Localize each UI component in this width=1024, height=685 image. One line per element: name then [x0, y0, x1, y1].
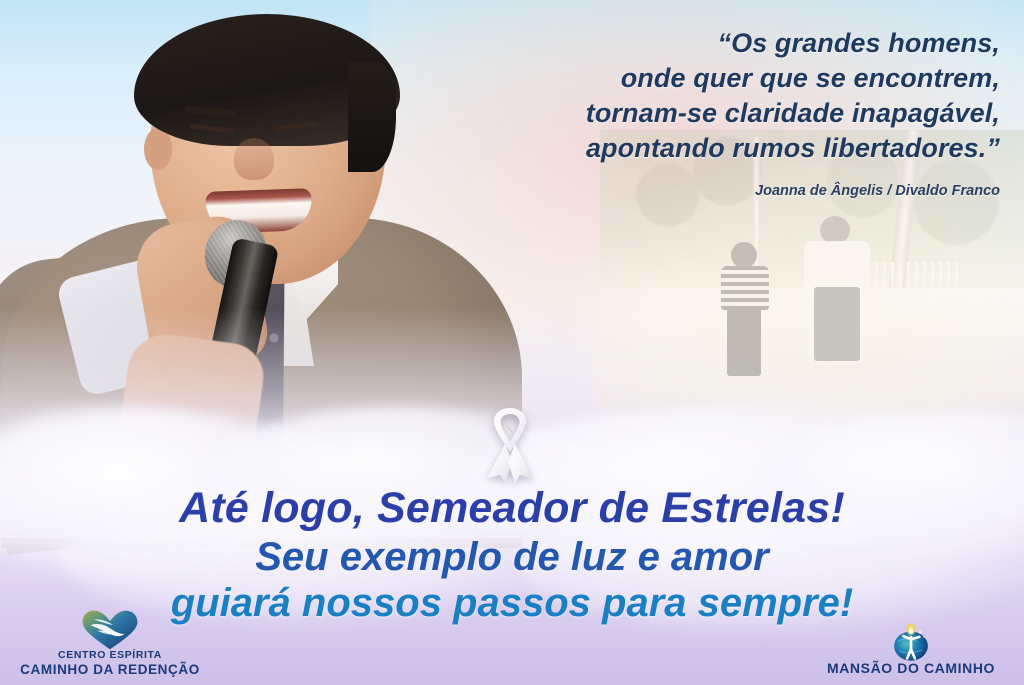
quote-line-2: onde quer que se encontrem, [460, 61, 1000, 96]
white-mourning-ribbon-icon [479, 404, 541, 484]
logo-mansao-do-caminho: MANSÃO DO CAMINHO [808, 621, 1014, 677]
logo-right-line-2: MANSÃO DO CAMINHO [827, 661, 995, 677]
headline-line-1: Até logo, Semeador de Estrelas! [0, 486, 1024, 532]
headline-block: Até logo, Semeador de Estrelas! Seu exem… [0, 486, 1024, 624]
portrait-nose [234, 138, 274, 180]
person-torso [804, 241, 870, 289]
logo-centro-espirita-caminho-da-redencao: CENTRO ESPÍRITA CAMINHO DA REDENÇÃO [12, 610, 208, 677]
heart-hands-icon [81, 610, 139, 650]
quote-block: “Os grandes homens, onde quer que se enc… [460, 26, 1000, 201]
quote-line-3: tornam-se claridade inapagável, [460, 96, 1000, 131]
logo-left-line-1: CENTRO ESPÍRITA [20, 650, 200, 662]
logo-right-text: MANSÃO DO CAMINHO [827, 661, 995, 677]
person-legs [727, 308, 761, 376]
memorial-poster: “Os grandes homens, onde quer que se enc… [0, 0, 1024, 685]
person-head [820, 216, 850, 244]
quote-line-1: “Os grandes homens, [460, 26, 1000, 61]
portrait-hair [134, 14, 400, 146]
quote-attribution: Joanna de Ângelis / Divaldo Franco [460, 182, 1000, 201]
person-head [731, 242, 757, 268]
person-legs [814, 287, 860, 361]
quote-line-4: apontando rumos libertadores.” [460, 131, 1000, 166]
logo-left-text: CENTRO ESPÍRITA CAMINHO DA REDENÇÃO [20, 650, 200, 677]
globe-figure-light-icon [888, 621, 934, 661]
person-torso [721, 266, 769, 310]
headline-line-2: Seu exemplo de luz e amor [0, 536, 1024, 578]
logo-left-line-2: CAMINHO DA REDENÇÃO [20, 662, 200, 677]
